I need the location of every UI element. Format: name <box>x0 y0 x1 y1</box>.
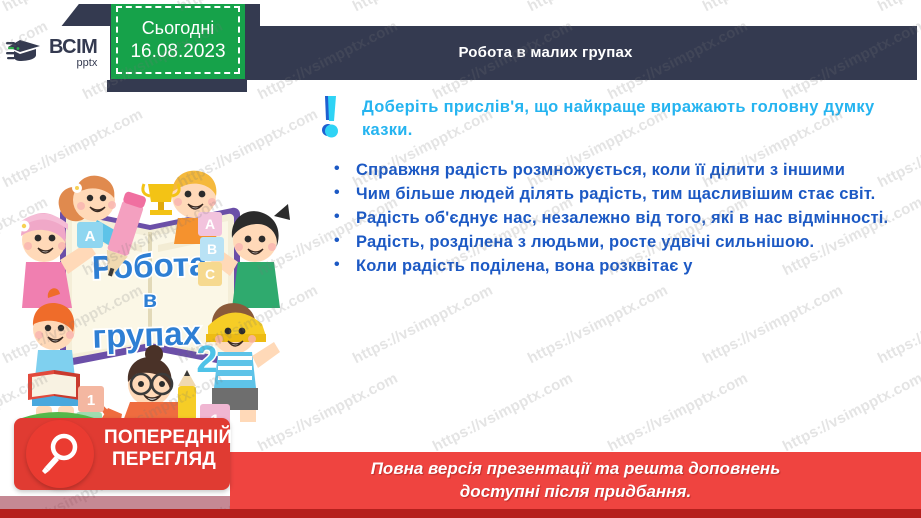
list-item: Коли радість поділена, вона розквітає у <box>330 255 916 278</box>
list-item: Радість, розділена з людьми, росте удвіч… <box>330 231 916 254</box>
date-badge: Сьогодні 16.08.2023 <box>111 1 245 79</box>
date-badge-today-label: Сьогодні <box>142 18 215 39</box>
slide-content: Доберіть прислів'я, що найкраще виражают… <box>316 92 916 279</box>
watermark-text: https://vsimpptx.com <box>605 370 751 455</box>
date-badge-date: 16.08.2023 <box>130 41 225 63</box>
svg-text:1: 1 <box>87 392 95 409</box>
intro-text: Доберіть прислів'я, що найкраще виражают… <box>346 92 916 143</box>
svg-text:A: A <box>205 216 215 232</box>
svg-text:B: B <box>207 241 217 257</box>
watermark-text: https://vsimpptx.com <box>525 282 671 367</box>
preview-badge-line-2: ПЕРЕГЛЯД <box>104 449 224 471</box>
watermark-text: https://vsimpptx.com <box>700 0 846 15</box>
presentation-slide: Робота в групах 2 <box>0 0 921 518</box>
watermark-text: https://vsimpptx.com <box>780 370 921 455</box>
exclamation-mark-icon <box>320 94 346 145</box>
list-item: Радість об'єднує нас, незалежно від того… <box>330 207 916 230</box>
proverb-list: Справжня радість розмножується, коли її … <box>316 159 916 278</box>
watermark-text: https://vsimpptx.com <box>350 282 496 367</box>
watermark-text: https://vsimpptx.com <box>875 282 921 367</box>
watermark-text: https://vsimpptx.com <box>700 282 846 367</box>
promo-line-2: доступні після придбання. <box>460 481 691 503</box>
promo-banner: Повна версія презентації та решта доповн… <box>230 452 921 509</box>
magnifier-icon <box>26 420 94 488</box>
svg-text:C: C <box>205 266 215 282</box>
watermark-text: https://vsimpptx.com <box>350 0 496 15</box>
watermark-text: https://vsimpptx.com <box>430 370 576 455</box>
list-item: Справжня радість розмножується, коли її … <box>330 159 916 182</box>
promo-line-1: Повна версія презентації та решта доповн… <box>371 458 781 480</box>
svg-text:2: 2 <box>196 339 217 381</box>
watermark-text: https://vsimpptx.com <box>875 0 921 15</box>
intro-row: Доберіть прислів'я, що найкраще виражают… <box>316 92 916 145</box>
watermark-text: https://vsimpptx.com <box>525 0 671 15</box>
preview-badge[interactable]: ПОПЕРЕДНІЙ ПЕРЕГЛЯД <box>14 418 230 490</box>
list-item: Чим більше людей ділять радість, тим щас… <box>330 183 916 206</box>
preview-badge-line-1: ПОПЕРЕДНІЙ <box>104 427 224 449</box>
preview-badge-text: ПОПЕРЕДНІЙ ПЕРЕГЛЯД <box>104 427 224 472</box>
promo-bottom-strip <box>0 509 921 518</box>
svg-text:в: в <box>143 286 157 312</box>
svg-text:A: A <box>85 228 96 245</box>
children-around-open-book-illustration: Робота в групах 2 <box>2 92 302 437</box>
